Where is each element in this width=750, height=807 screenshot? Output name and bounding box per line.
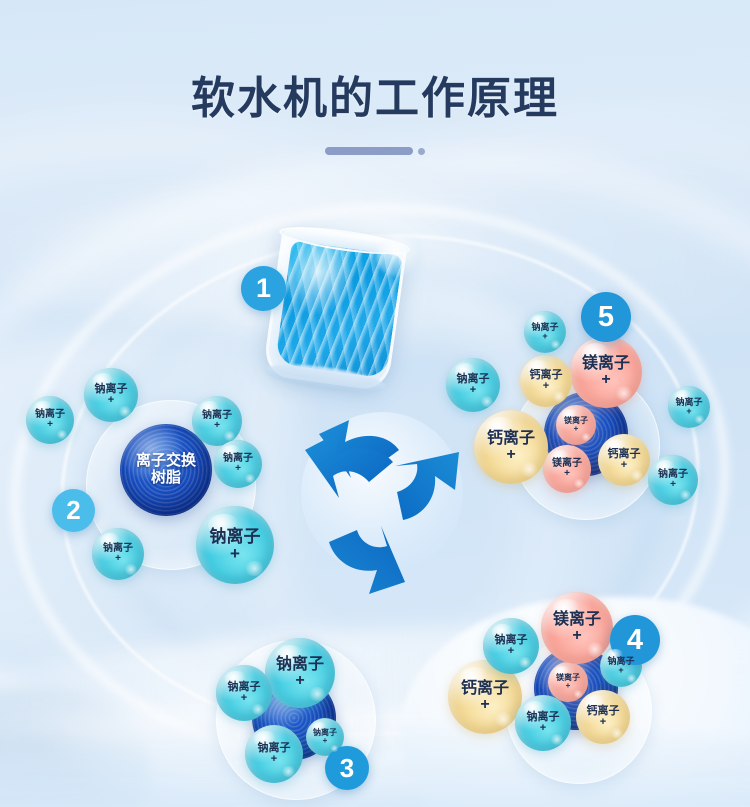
ion-charge: + [566,682,571,690]
title-block: 软水机的工作原理 [0,74,750,156]
glass-of-water-image [262,226,408,392]
ion-charge: + [686,407,691,416]
recycle-arrows-icon [293,398,471,603]
ion-bubble-sodium-large: 钠离子 + [196,506,274,584]
step-badge-1[interactable]: 1 [241,266,286,311]
ion-charge: + [115,554,121,564]
divider-bar [325,147,413,155]
ion-bubble-sodium: 钠离子 + [26,396,74,444]
ion-charge: + [621,460,627,471]
ion-charge: + [108,395,114,406]
ion-bubble-sodium: 钠离子 + [84,368,138,422]
ion-bubble-calcium: 钙离子 + [520,355,572,407]
ion-charge: + [470,385,476,396]
ion-charge: + [506,447,515,463]
ion-bubble-sodium: 钠离子 + [92,528,144,580]
ion-charge: + [574,425,579,433]
ion-bubble-calcium: 钙离子 + [576,690,630,744]
ion-bubble-sodium: 钠离子 + [245,725,303,783]
ion-bubble-sodium: 钠离子 + [648,455,698,505]
ion-name: 钙离子 [461,681,509,697]
ion-charge: + [564,469,570,479]
ion-name: 镁离子 [582,356,630,372]
ion-charge: + [323,737,328,745]
ion-charge: + [601,372,610,388]
resin-label-2: 离子交换 树脂 [120,453,212,487]
ion-charge: + [618,666,623,675]
ion-charge: + [295,673,304,689]
resin-label-2-line1: 离子交换 [120,453,212,470]
infographic-canvas: 软水机的工作原理 [0,0,750,807]
ion-charge: + [230,545,240,562]
divider-dot [418,148,425,155]
ion-charge: + [508,646,514,657]
ion-bubble-sodium: 钠离子 + [515,695,571,751]
ion-name: 镁离子 [553,612,601,628]
step-badge-4-number: 4 [627,624,643,657]
ion-name: 钠离子 [276,657,324,673]
ion-charge: + [600,717,606,728]
step-badge-5-number: 5 [598,301,614,334]
recycle-arrows-svg [293,398,471,603]
ion-charge: + [47,420,53,430]
step-badge-3[interactable]: 3 [325,746,369,790]
ion-bubble-magnesium: 镁离子 + [543,445,591,493]
page-title: 软水机的工作原理 [0,74,750,125]
ion-charge: + [214,421,220,431]
ion-charge: + [241,693,247,704]
ion-bubble-sodium: 钠离子 + [192,396,242,446]
ion-bubble-calcium: 钙离子 + [598,434,650,486]
ion-charge: + [542,332,547,341]
resin-label-2-line2: 树脂 [120,470,212,487]
ion-bubble-magnesium-inner: 镁离子 + [556,405,596,445]
ion-charge: + [543,381,549,392]
step-badge-2[interactable]: 2 [52,489,95,532]
ion-charge: + [480,697,489,713]
ion-bubble-calcium-large: 钙离子 + [474,410,548,484]
title-divider [319,147,431,156]
ion-charge: + [670,480,676,490]
ion-bubble-magnesium-large: 镁离子 + [570,336,642,408]
ion-charge: + [271,754,277,765]
ion-charge: + [572,628,581,644]
step-badge-3-number: 3 [340,753,354,784]
ion-bubble-sodium: 钠离子 + [446,358,500,412]
ion-bubble-magnesium-inner: 镁离子 + [548,662,588,702]
ion-bubble-sodium-small: 钠离子 + [524,311,566,353]
step-badge-5[interactable]: 5 [581,292,631,342]
ion-name: 钙离子 [487,431,535,447]
step-badge-1-number: 1 [256,273,271,304]
step-badge-2-number: 2 [66,495,80,526]
ion-name: 钠离子 [210,528,261,545]
ion-charge: + [235,464,241,474]
ion-bubble-sodium-small: 钠离子 + [668,386,710,428]
ion-bubble-sodium: 钠离子 + [214,440,262,488]
ion-bubble-sodium: 钠离子 + [483,618,539,674]
ion-bubble-sodium-small: 钠离子 + [306,718,344,756]
ion-bubble-sodium-large: 钠离子 + [265,638,335,708]
ion-charge: + [540,723,546,734]
ion-bubble-sodium: 钠离子 + [216,665,272,721]
ion-bubble-magnesium-large: 镁离子 + [541,592,613,664]
